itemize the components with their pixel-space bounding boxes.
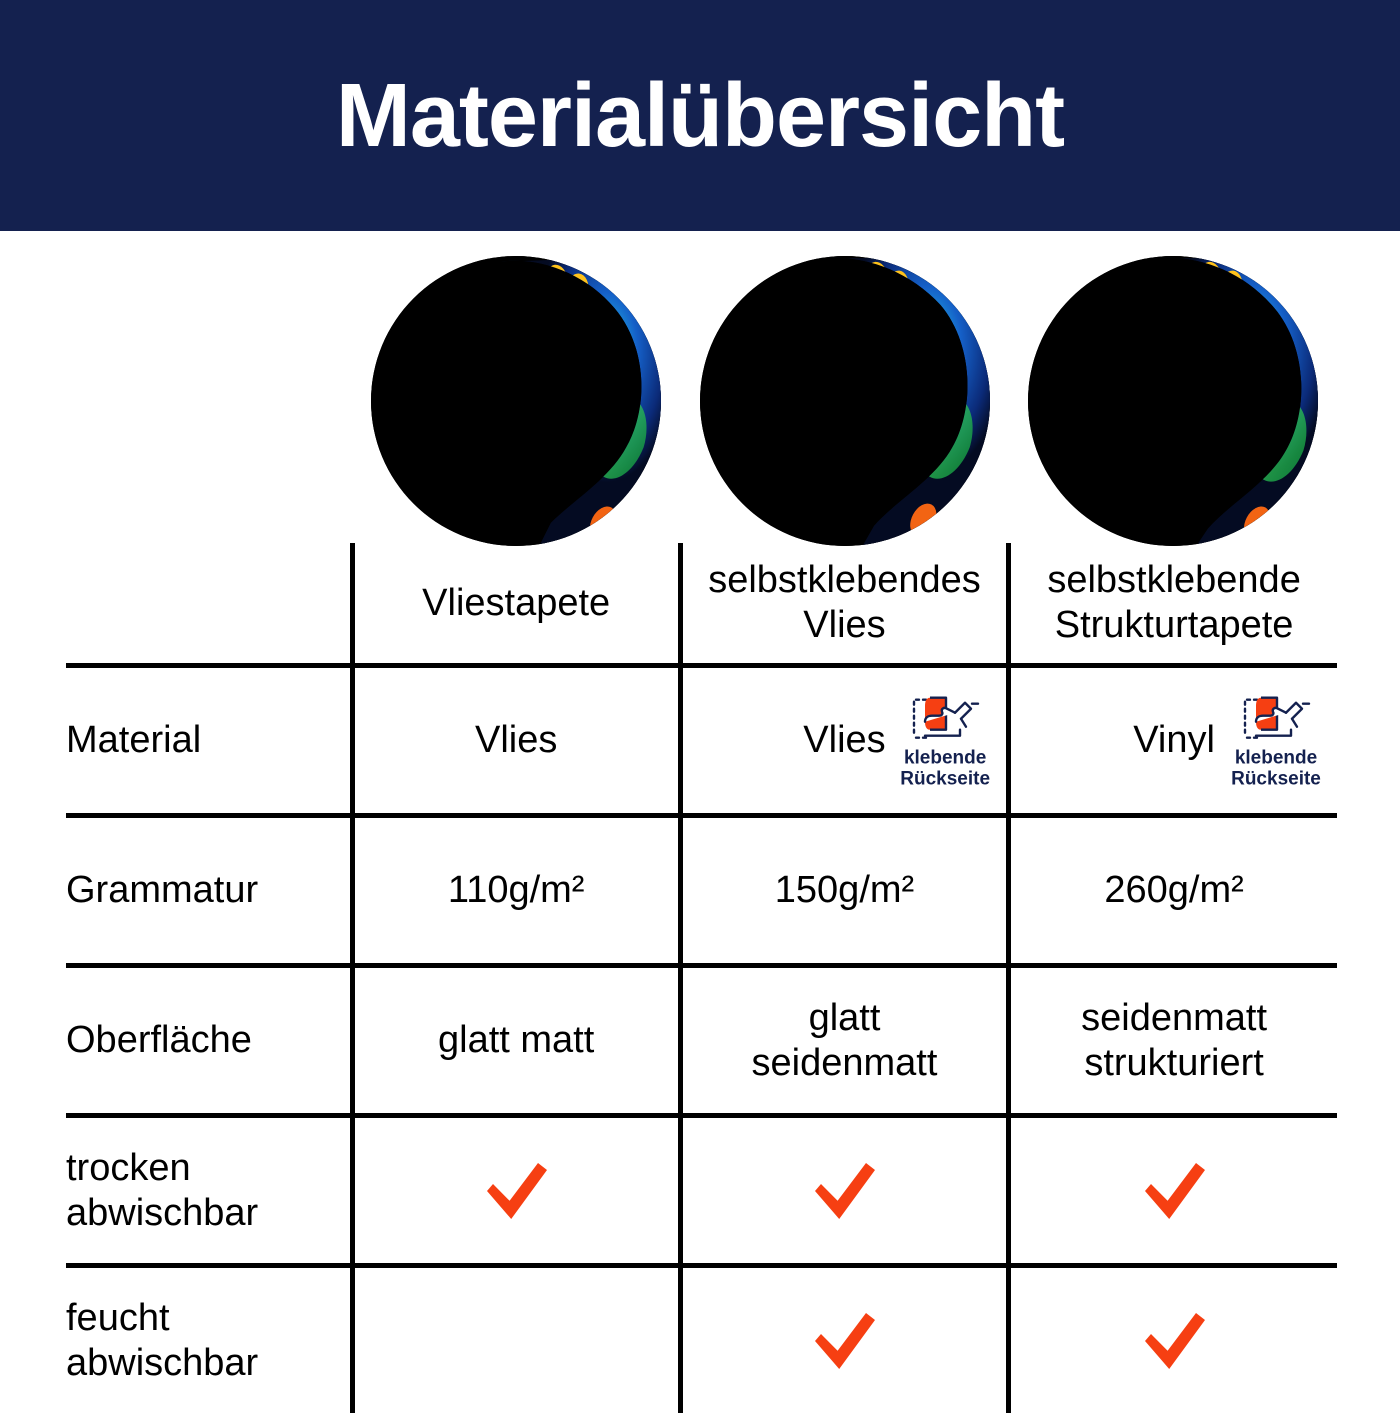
cell-feucht-col2 [680,1266,1008,1413]
cell-oberflaeche-col2: glatt seidenmatt [680,966,1008,1116]
checkmark-icon [808,1160,880,1222]
cell-grammatur-col1: 110g/m² [352,816,680,966]
table-row-trocken-abwischbar: trocken abwischbar [66,1116,1337,1266]
checkmark-icon [480,1160,552,1222]
table-row-feucht-abwischbar: feucht abwischbar [66,1266,1337,1413]
cell-value: Vlies [803,718,885,763]
cell-value: glatt seidenmatt [752,996,938,1086]
table-row-grammatur: Grammatur 110g/m² 150g/m² 260g/m² [66,816,1337,966]
cell-value: 110g/m² [448,868,585,913]
cell-grammatur-col3: 260g/m² [1009,816,1337,966]
cell-trocken-col1 [352,1116,680,1266]
adhesive-backing-badge: klebende Rückseite [886,691,1004,790]
page-header-band: Materialübersicht [0,0,1400,231]
cell-feucht-col3 [1009,1266,1337,1413]
material-comparison-section: Vliestapete selbstklebendes Vlies selbst… [0,231,1400,1400]
cell-trocken-col2 [680,1116,1008,1266]
cell-feucht-col1 [352,1266,680,1413]
cell-grammatur-col2: 150g/m² [680,816,1008,966]
cell-value: Vlies [475,718,557,763]
cell-trocken-col3 [1009,1116,1337,1266]
product-thumbnail-cell-3[interactable] [1009,251,1338,551]
row-label-oberflaeche: Oberfläche [66,966,352,1116]
material-spec-table: Vliestapete selbstklebendes Vlies selbst… [66,543,1337,1413]
product-thumbnail-cell-2[interactable] [681,251,1010,551]
adhesive-backing-badge: klebende Rückseite [1217,691,1335,790]
cell-value: 260g/m² [1104,868,1243,913]
cell-value: seidenmatt strukturiert [1081,996,1267,1086]
cell-material-col3: Vinyl [1009,666,1337,816]
column-header-1: Vliestapete [352,543,680,666]
product-thumbnail-cell-1[interactable] [352,251,681,551]
checkmark-icon [1138,1310,1210,1372]
cell-material-col1: Vlies [352,666,680,816]
cell-value: glatt matt [438,1018,594,1063]
adhesive-badge-caption: klebende Rückseite [900,747,990,790]
cell-oberflaeche-col1: glatt matt [352,966,680,1116]
product-thumbnail-1[interactable] [371,256,661,546]
row-label-trocken-abwischbar: trocken abwischbar [66,1116,352,1266]
adhesive-backing-icon [908,691,982,745]
cell-value: 150g/m² [775,868,914,913]
cell-oberflaeche-col3: seidenmatt strukturiert [1009,966,1337,1116]
table-row-oberflaeche: Oberfläche glatt matt glatt seidenmatt s… [66,966,1337,1116]
cell-value: Vinyl [1133,718,1215,763]
adhesive-badge-caption: klebende Rückseite [1231,747,1321,790]
table-header-row: Vliestapete selbstklebendes Vlies selbst… [66,543,1337,666]
row-label-feucht-abwischbar: feucht abwischbar [66,1266,352,1413]
product-thumbnail-row [352,251,1338,551]
adhesive-backing-icon [1239,691,1313,745]
page-title: Materialübersicht [296,71,1104,161]
product-thumbnail-3[interactable] [1028,256,1318,546]
neon-face-artwork-icon [371,256,661,546]
table-row-material: Material Vlies Vlies [66,666,1337,816]
neon-face-artwork-icon [700,256,990,546]
column-header-3: selbstklebende Strukturtapete [1009,543,1337,666]
row-label-grammatur: Grammatur [66,816,352,966]
neon-face-artwork-icon [1028,256,1318,546]
checkmark-icon [1138,1160,1210,1222]
row-label-material: Material [66,666,352,816]
product-thumbnail-2[interactable] [700,256,990,546]
cell-material-col2: Vlies [680,666,1008,816]
checkmark-icon [808,1310,880,1372]
column-header-2: selbstklebendes Vlies [680,543,1008,666]
table-corner-cell [66,543,352,666]
